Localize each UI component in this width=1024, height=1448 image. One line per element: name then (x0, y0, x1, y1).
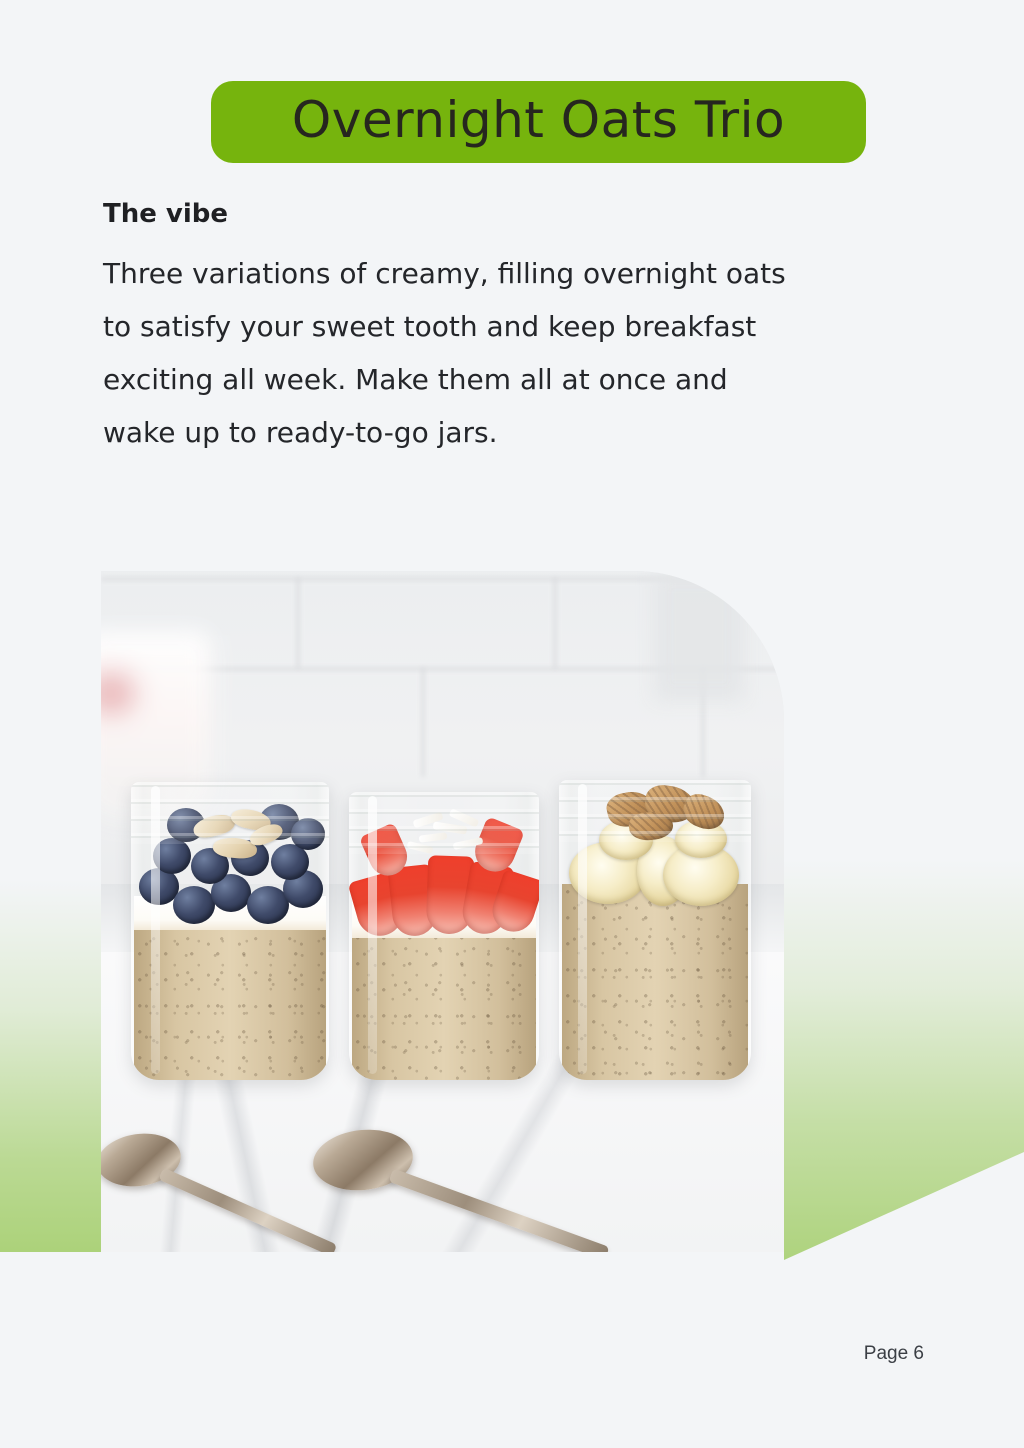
page-title: Overnight Oats Trio (292, 95, 785, 150)
content-block: The vibe Three variations of creamy, fil… (103, 200, 803, 459)
blueberry (173, 886, 215, 924)
banana-walnut-jar (559, 780, 751, 1080)
blueberry (153, 838, 191, 874)
decor-right-green-wedge (784, 860, 1024, 1260)
strawberry-coconut-jar (349, 792, 539, 1080)
oats-layer (562, 884, 748, 1080)
oats-layer (134, 920, 326, 1080)
background-blur-panel (654, 571, 744, 701)
recipe-photo (101, 571, 784, 1252)
shredded-coconut (419, 832, 448, 842)
oats-layer (352, 930, 536, 1080)
tile-grout-line (553, 577, 557, 669)
page-canvas: Overnight Oats Trio The vibe Three varia… (0, 0, 1024, 1448)
section-body-text: Three variations of creamy, filling over… (103, 247, 793, 459)
blueberry (291, 818, 325, 850)
shredded-coconut (407, 841, 434, 854)
section-heading: The vibe (103, 200, 803, 229)
tile-grout-line (296, 577, 300, 669)
photo-scene (101, 571, 784, 1252)
page-number: Page 6 (864, 1343, 924, 1365)
blueberry-almond-jar (131, 782, 329, 1080)
decor-left-green-bar (0, 880, 101, 1252)
tile-grout-line (421, 667, 425, 777)
page-title-pill: Overnight Oats Trio (211, 81, 866, 163)
